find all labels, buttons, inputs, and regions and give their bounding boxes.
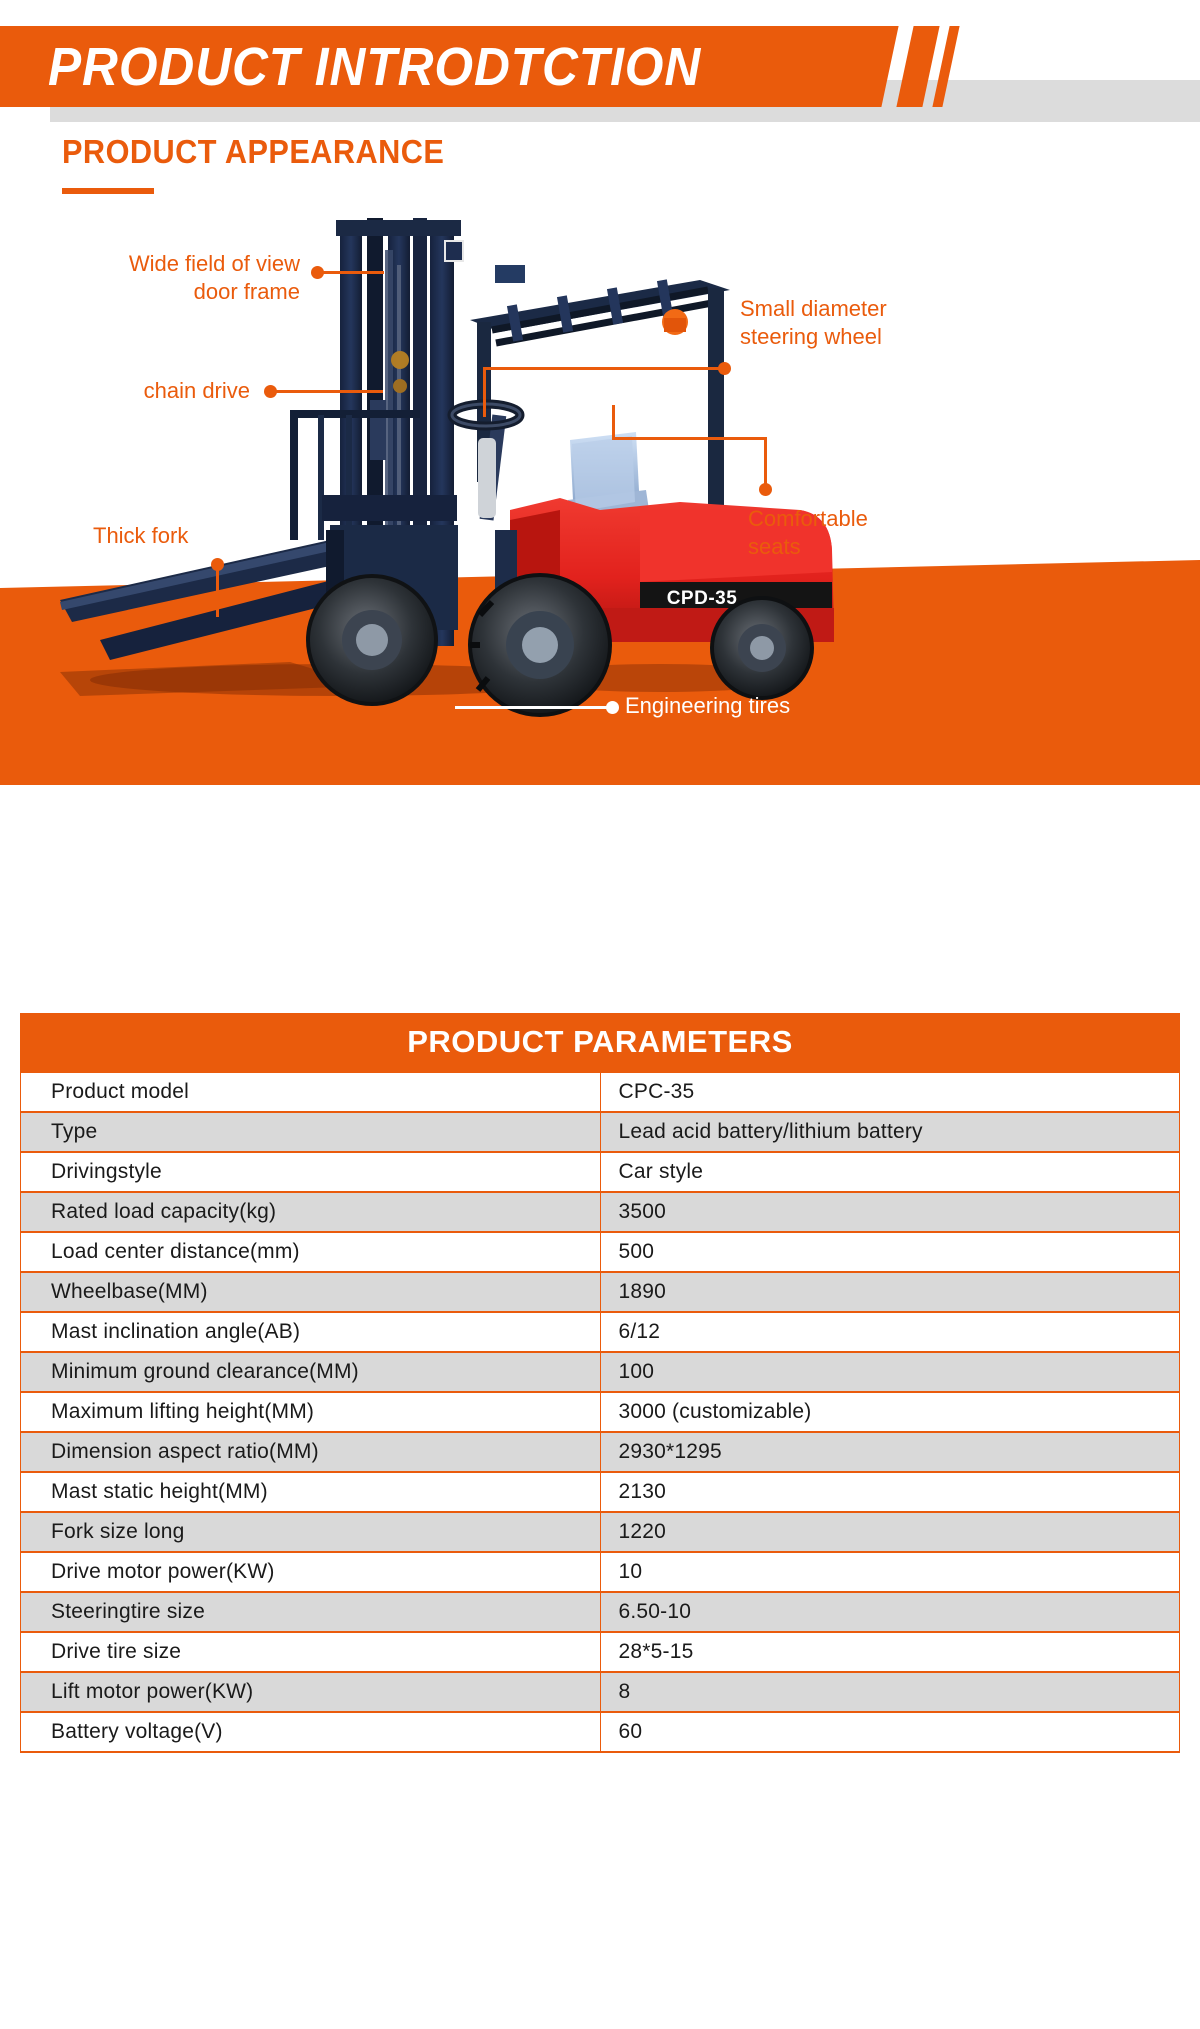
table-row: Steeringtire size 6.50-10 bbox=[21, 1592, 1180, 1632]
param-label: Minimum ground clearance(MM) bbox=[21, 1352, 601, 1392]
product-introduction-page: PRODUCT INTRODTCTION PRODUCT APPEARANCE bbox=[0, 0, 1200, 2029]
param-label: Rated load capacity(kg) bbox=[21, 1192, 601, 1232]
callout-leader-wide-field-of-view bbox=[322, 271, 384, 274]
param-value: 28*5-15 bbox=[600, 1632, 1180, 1672]
rear-wheel bbox=[710, 596, 814, 700]
table-row: Battery voltage(V) 60 bbox=[21, 1712, 1180, 1752]
param-value: 1890 bbox=[600, 1272, 1180, 1312]
table-row: Mast inclination angle(AB) 6/12 bbox=[21, 1312, 1180, 1352]
param-label: Steeringtire size bbox=[21, 1592, 601, 1632]
param-value: 100 bbox=[600, 1352, 1180, 1392]
callout-line1: Engineering tires bbox=[625, 692, 790, 720]
param-label: Product model bbox=[21, 1072, 601, 1112]
param-label: Lift motor power(KW) bbox=[21, 1672, 601, 1712]
callout-line1: Small diameter bbox=[740, 295, 887, 323]
callout-line2: seats bbox=[748, 533, 868, 561]
param-value: 6.50-10 bbox=[600, 1592, 1180, 1632]
callout-line2: steering wheel bbox=[740, 323, 887, 351]
param-value: 3500 bbox=[600, 1192, 1180, 1232]
table-row: Mast static height(MM) 2130 bbox=[21, 1472, 1180, 1512]
param-value: 60 bbox=[600, 1712, 1180, 1752]
param-value: 8 bbox=[600, 1672, 1180, 1712]
param-value: 2130 bbox=[600, 1472, 1180, 1512]
callout-leader-comfortable-seats-h bbox=[612, 437, 767, 440]
callout-line1: Comfortable bbox=[748, 505, 868, 533]
param-value: Car style bbox=[600, 1152, 1180, 1192]
table-row: Maximum lifting height(MM) 3000 (customi… bbox=[21, 1392, 1180, 1432]
table-row: Lift motor power(KW) 8 bbox=[21, 1672, 1180, 1712]
product-appearance-figure: CPD-35 bbox=[0, 205, 1200, 785]
callout-leader-comfortable-seats-up bbox=[612, 405, 615, 439]
callout-wide-field-of-view-door-frame: Wide field of view door frame bbox=[0, 250, 300, 306]
param-label: Mast inclination angle(AB) bbox=[21, 1312, 601, 1352]
page-header-banner: PRODUCT INTRODTCTION bbox=[0, 0, 1200, 130]
table-row: Drive tire size 28*5-15 bbox=[21, 1632, 1180, 1672]
param-label: Drivingstyle bbox=[21, 1152, 601, 1192]
callout-leader-thick-fork bbox=[216, 567, 219, 617]
table-row: Product model CPC-35 bbox=[21, 1072, 1180, 1112]
callout-leader-comfortable-seats-v bbox=[764, 437, 767, 485]
param-value: 500 bbox=[600, 1232, 1180, 1272]
table-row: Type Lead acid battery/lithium battery bbox=[21, 1112, 1180, 1152]
callout-line1: Thick fork bbox=[93, 522, 188, 550]
param-label: Drive tire size bbox=[21, 1632, 601, 1672]
param-label: Dimension aspect ratio(MM) bbox=[21, 1432, 601, 1472]
table-row: Rated load capacity(kg) 3500 bbox=[21, 1192, 1180, 1232]
param-value: CPC-35 bbox=[600, 1072, 1180, 1112]
param-label: Maximum lifting height(MM) bbox=[21, 1392, 601, 1432]
callout-leader-engineering-tires bbox=[455, 706, 607, 709]
callout-line1: chain drive bbox=[0, 377, 250, 405]
page-title: PRODUCT INTRODTCTION bbox=[48, 36, 821, 98]
table-body: Product model CPC-35 Type Lead acid batt… bbox=[21, 1072, 1180, 1752]
callout-small-diameter-steering-wheel: Small diameter steering wheel bbox=[740, 295, 887, 351]
table-title: PRODUCT PARAMETERS bbox=[21, 1014, 1180, 1072]
param-label: Battery voltage(V) bbox=[21, 1712, 601, 1752]
callout-leader-steering-wheel-h bbox=[483, 367, 721, 370]
drive-wheel bbox=[468, 573, 612, 717]
table-row: Wheelbase(MM) 1890 bbox=[21, 1272, 1180, 1312]
callout-leader-steering-wheel-v bbox=[483, 367, 486, 417]
table-header-row: PRODUCT PARAMETERS bbox=[21, 1014, 1180, 1072]
table-row: Load center distance(mm) 500 bbox=[21, 1232, 1180, 1272]
param-value: 1220 bbox=[600, 1512, 1180, 1552]
callout-chain-drive: chain drive bbox=[0, 377, 250, 405]
table-row: Drive motor power(KW) 10 bbox=[21, 1552, 1180, 1592]
table-row: Fork size long 1220 bbox=[21, 1512, 1180, 1552]
param-label: Type bbox=[21, 1112, 601, 1152]
forklift-model-decal: CPD-35 bbox=[667, 588, 738, 609]
param-label: Fork size long bbox=[21, 1512, 601, 1552]
table-row: Minimum ground clearance(MM) 100 bbox=[21, 1352, 1180, 1392]
callout-leader-chain-drive bbox=[275, 390, 383, 393]
callout-thick-fork: Thick fork bbox=[93, 522, 188, 550]
param-value: Lead acid battery/lithium battery bbox=[600, 1112, 1180, 1152]
section-title-product-appearance: PRODUCT APPEARANCE bbox=[62, 133, 444, 171]
param-label: Load center distance(mm) bbox=[21, 1232, 601, 1272]
param-value: 3000 (customizable) bbox=[600, 1392, 1180, 1432]
table-row: Drivingstyle Car style bbox=[21, 1152, 1180, 1192]
param-label: Drive motor power(KW) bbox=[21, 1552, 601, 1592]
callout-comfortable-seats: Comfortable seats bbox=[748, 505, 868, 561]
param-label: Mast static height(MM) bbox=[21, 1472, 601, 1512]
table-row: Dimension aspect ratio(MM) 2930*1295 bbox=[21, 1432, 1180, 1472]
param-value: 6/12 bbox=[600, 1312, 1180, 1352]
callout-dot-engineering-tires bbox=[606, 701, 619, 714]
callout-engineering-tires: Engineering tires bbox=[625, 692, 790, 720]
product-parameters-table: PRODUCT PARAMETERS Product model CPC-35 … bbox=[20, 1013, 1180, 1753]
callout-line2: door frame bbox=[0, 278, 300, 306]
param-value: 2930*1295 bbox=[600, 1432, 1180, 1472]
param-value: 10 bbox=[600, 1552, 1180, 1592]
param-label: Wheelbase(MM) bbox=[21, 1272, 601, 1312]
section-title-underline bbox=[62, 188, 154, 194]
front-wheel bbox=[306, 574, 438, 706]
callout-line1: Wide field of view bbox=[0, 250, 300, 278]
